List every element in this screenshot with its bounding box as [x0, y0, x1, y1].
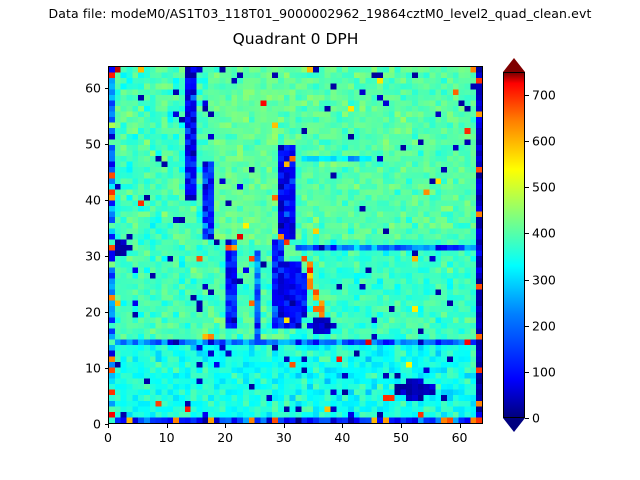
colorbar-tick-label: 300 [532, 272, 556, 287]
y-tick-label: 40 [85, 193, 101, 208]
y-tick-mark [105, 88, 109, 89]
y-tick-label: 20 [85, 305, 101, 320]
colorbar-tick-mark [525, 280, 529, 281]
colorbar-over-arrow-icon [503, 58, 525, 72]
y-tick-label: 50 [85, 137, 101, 152]
y-tick-label: 60 [85, 81, 101, 96]
y-tick-label: 30 [85, 249, 101, 264]
x-tick-label: 20 [217, 430, 233, 445]
colorbar-under-arrow-icon [503, 418, 525, 432]
y-tick-mark [105, 368, 109, 369]
colorbar-tick-mark [525, 326, 529, 327]
colorbar-tick-mark [525, 372, 529, 373]
colorbar-tick-label: 0 [532, 411, 540, 426]
colorbar-tick-mark [525, 233, 529, 234]
colorbar-tick-mark [525, 95, 529, 96]
x-tick-mark [401, 424, 402, 428]
x-tick-label: 10 [159, 430, 175, 445]
colorbar-tick-label: 400 [532, 226, 556, 241]
x-tick-label: 60 [452, 430, 468, 445]
figure-canvas: Data file: modeM0/AS1T03_118T01_90000029… [0, 0, 640, 480]
x-tick-label: 0 [104, 430, 112, 445]
x-tick-mark [284, 424, 285, 428]
y-tick-mark [105, 424, 109, 425]
y-tick-mark [105, 312, 109, 313]
colorbar-tick-mark [525, 141, 529, 142]
colorbar-tick-label: 700 [532, 88, 556, 103]
colorbar-tick-label: 100 [532, 364, 556, 379]
y-tick-label: 0 [93, 417, 101, 432]
colorbar-tick-label: 200 [532, 318, 556, 333]
x-tick-mark [108, 424, 109, 428]
y-tick-mark [105, 256, 109, 257]
colorbar-gradient [503, 72, 525, 418]
colorbar-tick-mark [525, 187, 529, 188]
x-tick-mark [460, 424, 461, 428]
y-tick-mark [105, 200, 109, 201]
x-tick-mark [167, 424, 168, 428]
data-file-label: Data file: modeM0/AS1T03_118T01_90000029… [0, 6, 640, 21]
detector-pixel-heatmap[interactable] [109, 67, 482, 423]
heatmap-axes[interactable] [108, 66, 483, 424]
y-tick-label: 10 [85, 361, 101, 376]
y-tick-mark [105, 144, 109, 145]
x-tick-label: 50 [393, 430, 409, 445]
x-tick-label: 40 [334, 430, 350, 445]
colorbar[interactable]: 0100200300400500600700 [503, 58, 525, 432]
x-tick-label: 30 [276, 430, 292, 445]
colorbar-tick-label: 500 [532, 180, 556, 195]
plot-title: Quadrant 0 DPH [108, 30, 483, 48]
colorbar-tick-mark [525, 418, 529, 419]
x-tick-mark [342, 424, 343, 428]
x-tick-mark [225, 424, 226, 428]
colorbar-tick-label: 600 [532, 134, 556, 149]
